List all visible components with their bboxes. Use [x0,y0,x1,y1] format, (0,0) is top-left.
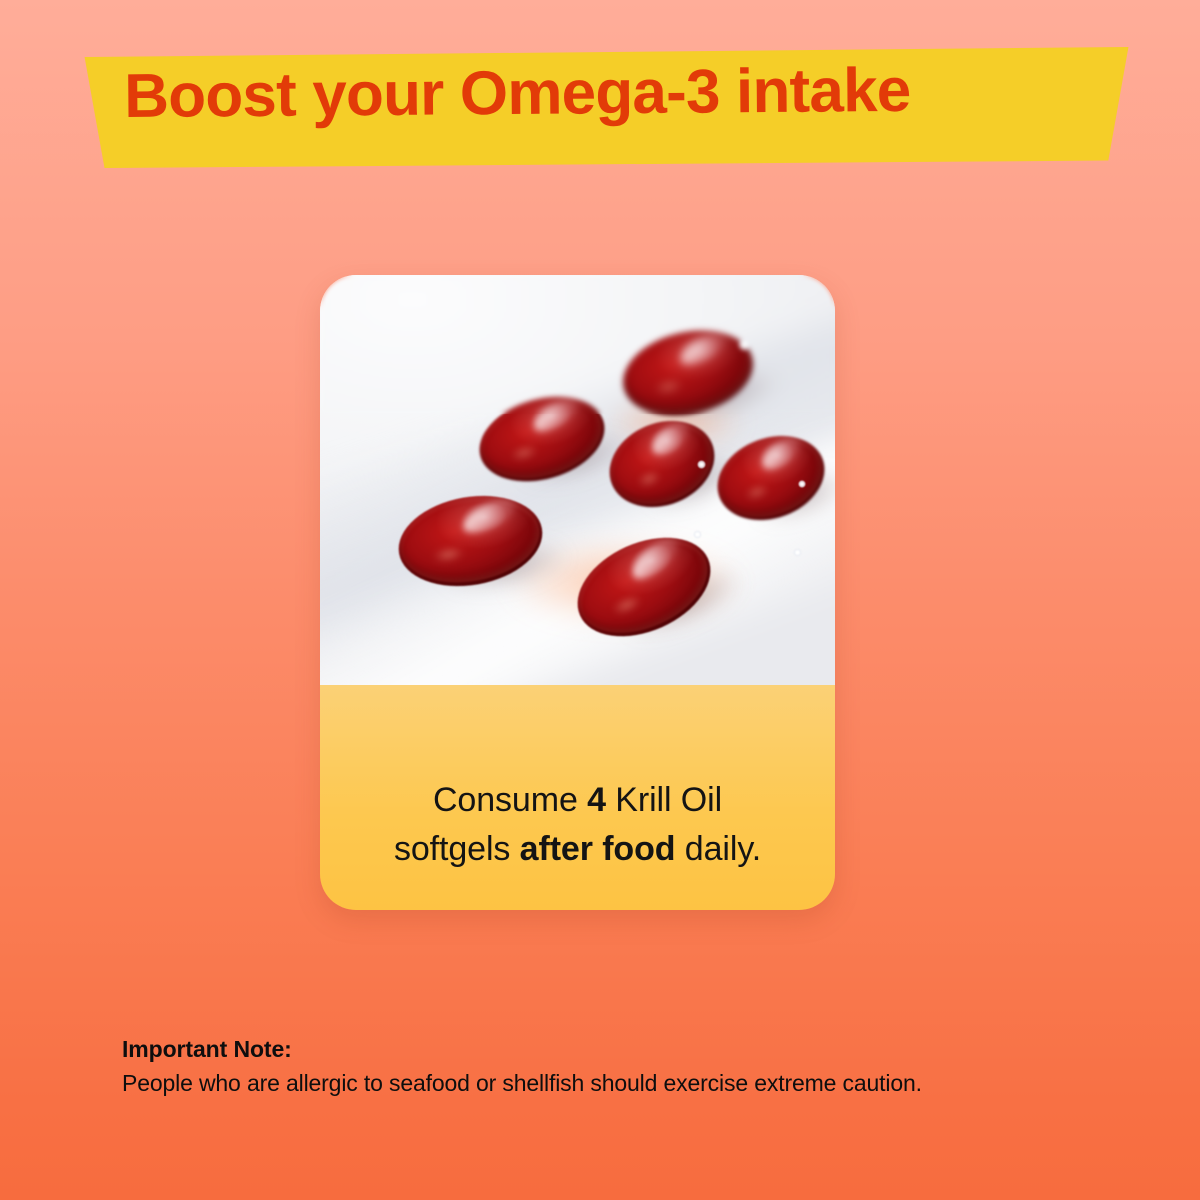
dew-drop [693,530,702,539]
important-note-title: Important Note: [122,1034,1022,1065]
softgel-capsule [469,383,614,495]
instruction-line1-suffix: Krill Oil [606,781,722,819]
dew-drop [793,548,802,557]
instruction-line1-prefix: Consume [433,781,587,819]
poster-canvas: Boost your Omega-3 intake [0,0,1200,1200]
important-note-body: People who are allergic to seafood or sh… [122,1067,1022,1100]
page-title: Boost your Omega-3 intake [124,58,1104,128]
dew-drop [798,480,806,488]
instruction-card: Consume 4 Krill Oil softgels after food … [320,275,835,910]
headline-banner: Boost your Omega-3 intake [78,44,1138,168]
krill-oil-softgel-capsules-photo [320,275,835,685]
instruction-line2-suffix: daily. [675,830,761,868]
dew-drop [697,460,706,469]
instruction-timing: after food [520,830,676,868]
instruction-panel: Consume 4 Krill Oil softgels after food … [320,685,835,910]
instruction-dose-count: 4 [587,781,606,819]
dew-drop [738,338,751,351]
important-note-block: Important Note: People who are allergic … [122,1034,1022,1100]
dosage-instruction-text: Consume 4 Krill Oil softgels after food … [368,776,787,873]
instruction-line2-prefix: softgels [394,830,520,868]
